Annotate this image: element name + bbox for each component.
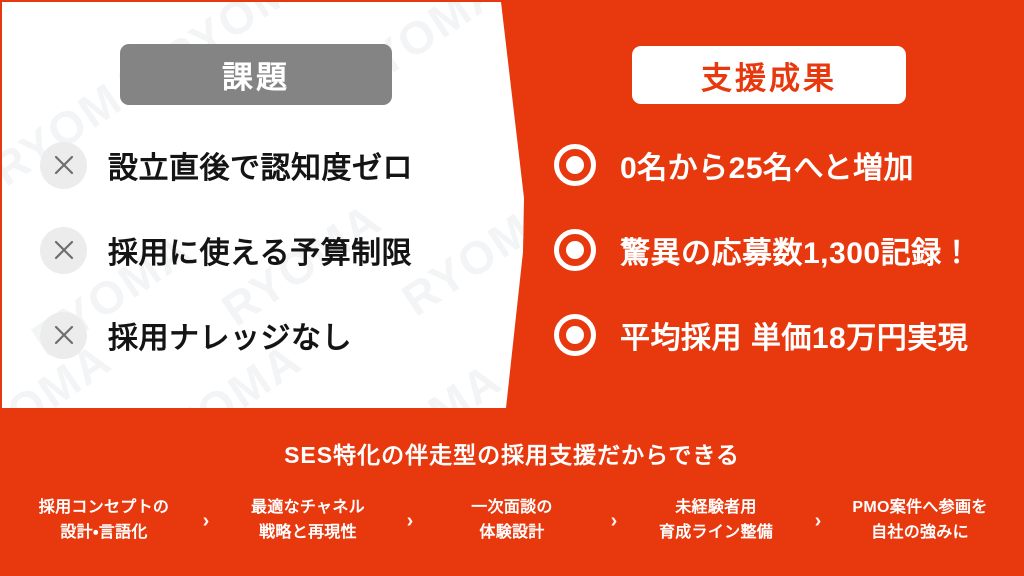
process-footer: SES特化の伴走型の採用支援だからできる 採用コンセプトの 設計・言語化 › 最… bbox=[0, 410, 1024, 576]
slide-canvas: RYOMA RYOMA RYOMA RYOMA RYOMA RYOMA RYOM… bbox=[0, 0, 1024, 576]
issues-badge: 課題 bbox=[120, 44, 392, 105]
step-line-1: PMO案件へ参画を bbox=[852, 499, 987, 516]
results-badge: 支援成果 bbox=[632, 46, 906, 104]
list-item: 設立直後で認知度ゼロ bbox=[40, 136, 490, 194]
step-line-2: 設計・言語化 bbox=[21, 521, 187, 546]
chevron-right-icon: › bbox=[187, 510, 225, 533]
step-line-1: 採用コンセプトの bbox=[39, 499, 169, 516]
footer-title: SES特化の伴走型の採用支援だからできる bbox=[0, 436, 1024, 470]
list-item: 採用に使える予算制限 bbox=[40, 221, 490, 279]
process-step: 未経験者用 育成ライン整備 bbox=[633, 496, 799, 546]
cross-circle-icon bbox=[40, 142, 87, 189]
process-step: 最適なチャネル 戦略と再現性 bbox=[225, 496, 391, 546]
list-item: 0名から25名へと増加 bbox=[552, 136, 1012, 194]
step-line-2: 戦略と再現性 bbox=[225, 521, 391, 546]
process-steps: 採用コンセプトの 設計・言語化 › 最適なチャネル 戦略と再現性 › 一次面談の… bbox=[0, 486, 1024, 556]
result-text: 0名から25名へと増加 bbox=[620, 143, 914, 187]
target-circle-icon bbox=[554, 229, 596, 271]
step-line-2: 育成ライン整備 bbox=[633, 521, 799, 546]
issue-text: 採用に使える予算制限 bbox=[108, 228, 412, 272]
result-text: 平均採用 単価18万円実現 bbox=[620, 313, 968, 357]
step-line-1: 最適なチャネル bbox=[251, 499, 365, 516]
step-line-2: 体験設計 bbox=[429, 521, 595, 546]
list-item: 採用ナレッジなし bbox=[40, 306, 490, 364]
process-step: 一次面談の 体験設計 bbox=[429, 496, 595, 546]
results-list: 0名から25名へと増加 驚異の応募数1,300記録！ 平均採用 単価18万円実現 bbox=[552, 136, 1012, 364]
cross-circle-icon bbox=[40, 312, 87, 359]
list-item: 平均採用 単価18万円実現 bbox=[552, 306, 1012, 364]
list-item: 驚異の応募数1,300記録！ bbox=[552, 221, 1012, 279]
step-line-2: 自社の強みに bbox=[837, 521, 1003, 546]
issues-badge-label: 課題 bbox=[222, 52, 290, 97]
result-text: 驚異の応募数1,300記録！ bbox=[620, 228, 972, 272]
issue-text: 設立直後で認知度ゼロ bbox=[108, 143, 413, 187]
cross-circle-icon bbox=[40, 227, 87, 274]
results-badge-label: 支援成果 bbox=[701, 53, 837, 98]
step-line-1: 未経験者用 bbox=[675, 499, 757, 516]
chevron-right-icon: › bbox=[595, 510, 633, 533]
process-step: PMO案件へ参画を 自社の強みに bbox=[837, 496, 1003, 546]
step-line-1: 一次面談の bbox=[471, 499, 553, 516]
target-circle-icon bbox=[554, 314, 596, 356]
chevron-right-icon: › bbox=[799, 510, 837, 533]
issue-text: 採用ナレッジなし bbox=[108, 313, 352, 357]
chevron-right-icon: › bbox=[391, 510, 429, 533]
process-step: 採用コンセプトの 設計・言語化 bbox=[21, 496, 187, 546]
issues-list: 設立直後で認知度ゼロ 採用に使える予算制限 採用ナレッジなし bbox=[40, 136, 490, 364]
target-circle-icon bbox=[554, 144, 596, 186]
